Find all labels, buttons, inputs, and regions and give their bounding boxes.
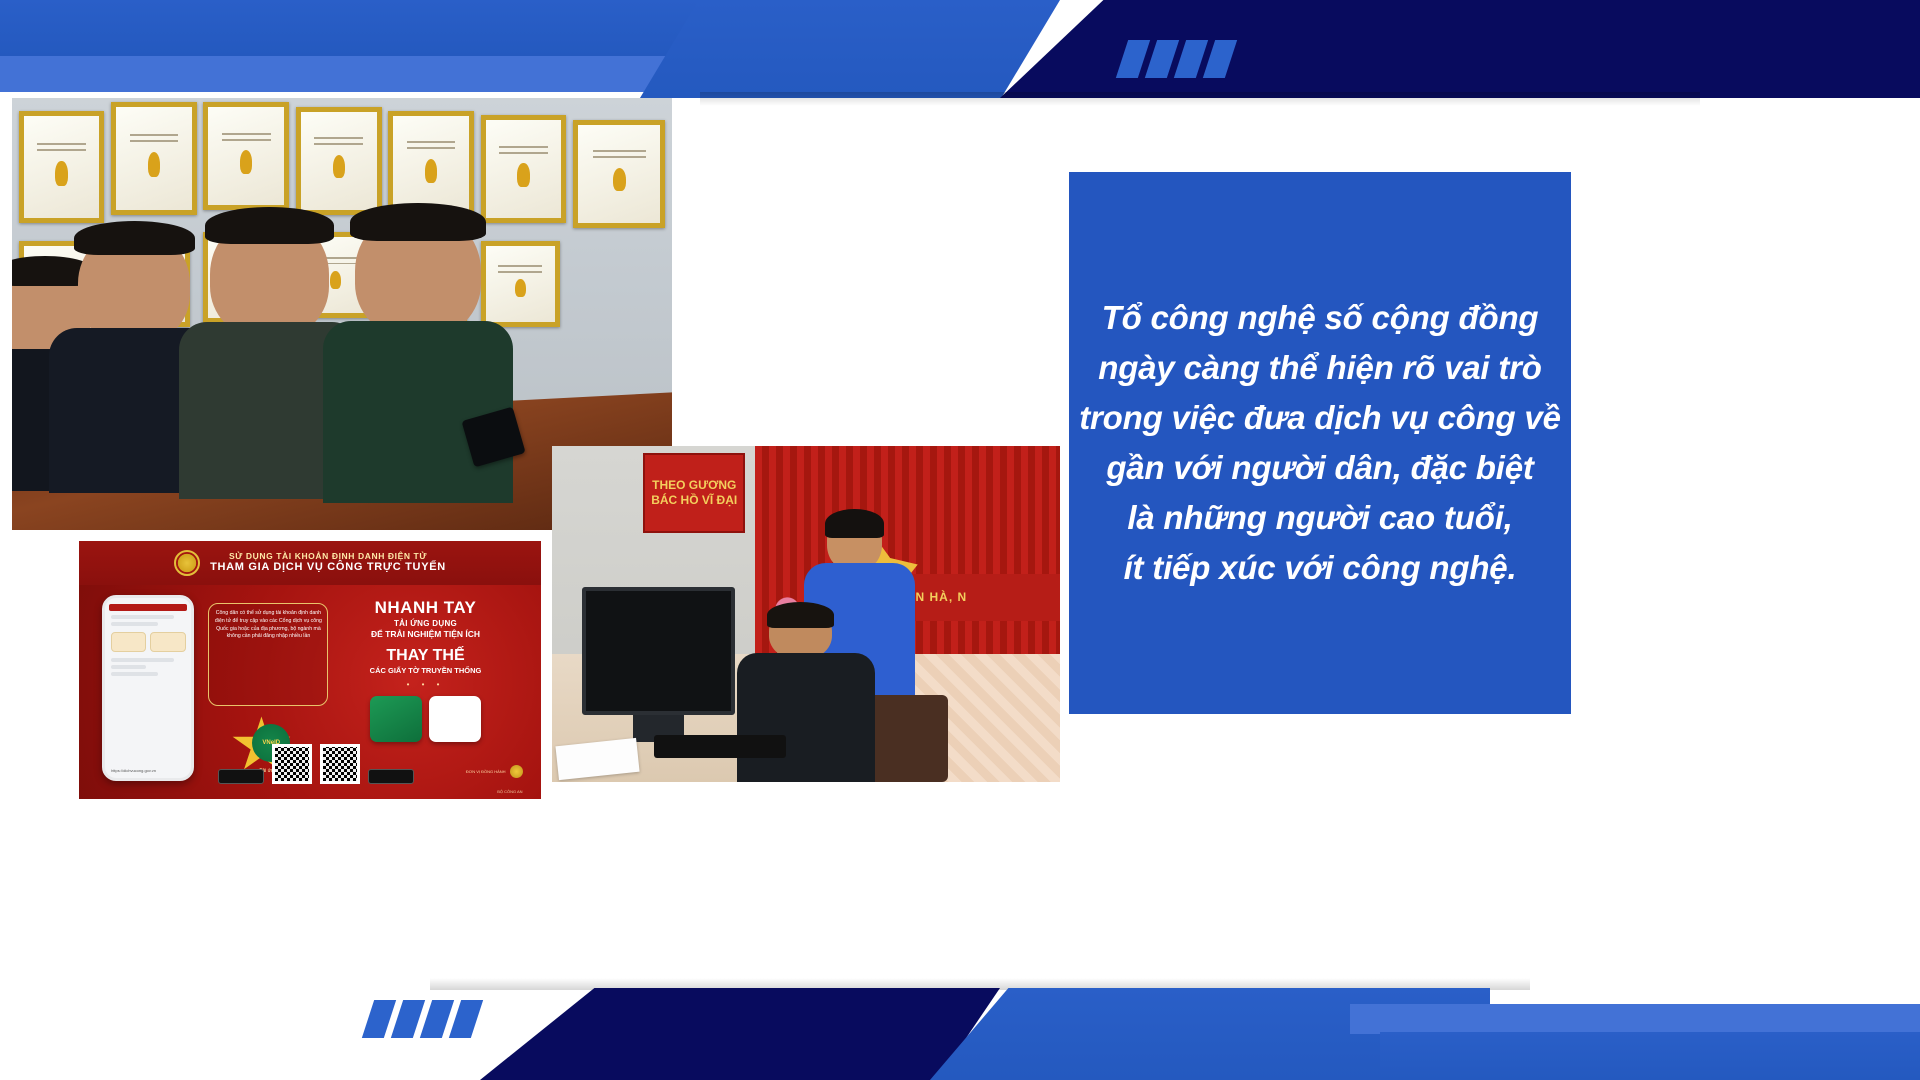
certificate-frame (111, 102, 197, 214)
poster-footer-note: BỘ CÔNG AN (497, 789, 522, 794)
top-shadow (700, 92, 1700, 106)
certificate-frame (481, 115, 567, 223)
poster-sub-line1: TẢI ỨNG DỤNG (324, 619, 527, 628)
poster-body: SỬ DỤNG TÀI KHOẢN ĐỊNH DANH ĐIỆN TỬ THAM… (79, 541, 541, 799)
qr-code-icon (272, 744, 312, 784)
quote-line: ít tiếp xúc với công nghệ. (1079, 543, 1561, 593)
qr-code-icon (320, 744, 360, 784)
poster-sub-line2: ĐỂ TRẢI NGHIỆM TIỆN ÍCH (324, 629, 527, 639)
poster-partner-label: ĐƠN VỊ ĐỒNG HÀNH (466, 769, 506, 774)
poster-partner: ĐƠN VỊ ĐỒNG HÀNH (466, 765, 523, 778)
poster-bubble-text: Công dân có thể sử dụng tài khoản định d… (208, 603, 328, 706)
dash-mark-icon (1174, 40, 1208, 78)
photo-office: THEO GƯƠNG BÁC HỒ VĨ ĐẠI SƠN HÀ, N (552, 446, 1060, 782)
computer-monitor (582, 587, 734, 715)
photo-vneid-poster: SỬ DỤNG TÀI KHOẢN ĐỊNH DANH ĐIỆN TỬ THAM… (75, 537, 545, 803)
bottom-band-dark (1380, 1032, 1920, 1080)
certificate-frame (573, 120, 665, 228)
dash-mark-icon (1145, 40, 1179, 78)
poster-header: SỬ DỤNG TÀI KHOẢN ĐỊNH DANH ĐIỆN TỬ THAM… (79, 541, 541, 585)
poster-phone-url: https://dichvucong.gov.vn (111, 768, 156, 773)
poster-dots: • • • (324, 680, 527, 689)
poster-header-line1: SỬ DỤNG TÀI KHOẢN ĐỊNH DANH ĐIỆN TỬ (210, 551, 446, 561)
bottom-band-light (1350, 1004, 1920, 1034)
poster-big-line1: NHANH TAY (324, 598, 527, 618)
keyboard (654, 735, 786, 759)
quote-panel: Tổ công nghệ số cộng đồng ngày càng thể … (1069, 172, 1571, 714)
person-figure (78, 228, 190, 479)
person-figure (210, 215, 329, 483)
top-band-light (0, 56, 710, 92)
banner-theo-guong: THEO GƯƠNG BÁC HỒ VĨ ĐẠI (643, 453, 745, 534)
partner-seal-icon (510, 765, 523, 778)
quote-line: gần với người dân, đặc biệt (1079, 443, 1561, 493)
infographic-canvas: SỬ DỤNG TÀI KHOẢN ĐỊNH DANH ĐIỆN TỬ THAM… (0, 0, 1920, 1080)
bottom-wedge-navy (480, 988, 1000, 1080)
quote-text: Tổ công nghệ số cộng đồng ngày càng thể … (1063, 293, 1577, 594)
poster-right-copy: NHANH TAY TẢI ỨNG DỤNG ĐỂ TRẢI NGHIỆM TI… (324, 598, 527, 742)
poster-big-line2: THAY THẾ (324, 647, 527, 665)
google-play-badge (368, 769, 414, 784)
certificate-frame (203, 102, 289, 210)
person-figure (355, 210, 480, 486)
certificate-frame (296, 107, 382, 215)
poster-header-line2: THAM GIA DỊCH VỤ CÔNG TRỰC TUYẾN (210, 561, 446, 574)
poster-illustration-card (370, 696, 422, 742)
app-store-badge (218, 769, 264, 784)
top-wedge-mid (640, 0, 1060, 98)
quote-line: Tổ công nghệ số cộng đồng (1079, 293, 1561, 343)
quote-line: là những người cao tuổi, (1079, 493, 1561, 543)
top-dash-group (1122, 40, 1231, 78)
certificate-frame (481, 241, 560, 327)
poster-qr-group (218, 744, 414, 784)
poster-sub-line3: CÁC GIẤY TỜ TRUYỀN THỐNG (324, 666, 527, 675)
bottom-decoration (0, 970, 1920, 1080)
chair (867, 695, 948, 782)
quote-line: ngày càng thể hiện rõ vai trò (1079, 343, 1561, 393)
quote-line: trong việc đưa dịch vụ công về (1079, 393, 1561, 443)
national-emblem-icon (174, 550, 200, 576)
poster-phone-mockup: https://dichvucong.gov.vn (102, 595, 194, 781)
poster-illustration-card (429, 696, 481, 742)
certificate-frame (19, 111, 105, 223)
